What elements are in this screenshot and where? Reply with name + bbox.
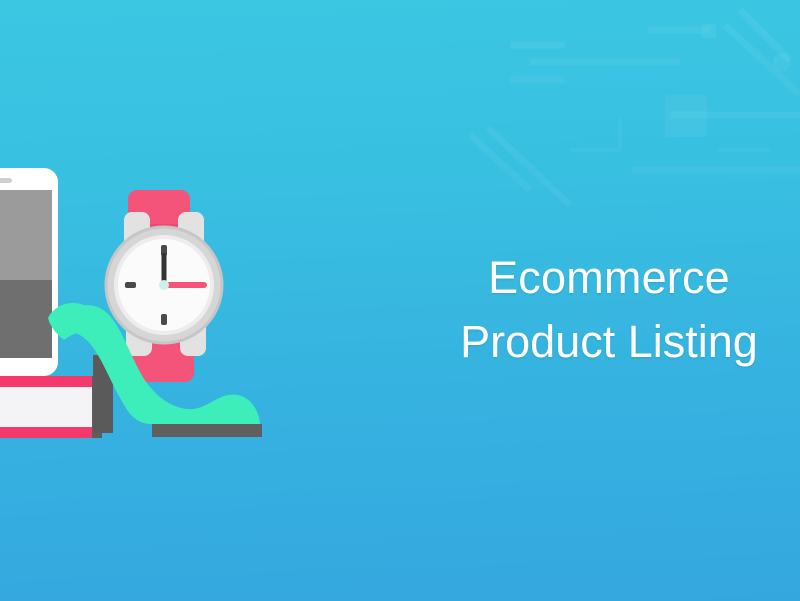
hero-title-line-1: Ecommerce — [420, 246, 798, 310]
smartphone-icon — [0, 168, 58, 381]
promo-banner: Ecommerce Product Listing — [0, 0, 800, 601]
hero-title-line-2: Product Listing — [420, 310, 798, 374]
hero-title: Ecommerce Product Listing — [420, 246, 798, 374]
product-illustration — [0, 0, 300, 601]
shoe-box-icon — [0, 376, 102, 438]
